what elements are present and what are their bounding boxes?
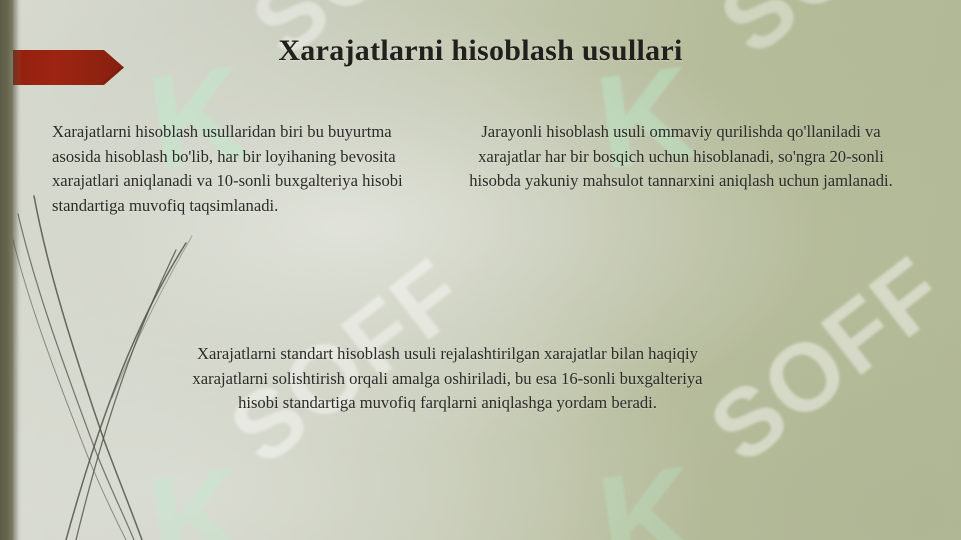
text-block-left-paragraph: Xarajatlarni hisoblash usullaridan biri … <box>52 120 404 218</box>
text-block-bottom: Xarajatlarni standart hisoblash usuli re… <box>175 342 720 416</box>
slide-canvas: K K K K SOFF SOFF SOFF SOFF <box>0 0 961 540</box>
slide-background-vignette <box>0 0 961 540</box>
text-block-right-paragraph: Jarayonli hisoblash usuli ommaviy qurili… <box>455 120 907 194</box>
page-title: Xarajatlarni hisoblash usullari <box>0 34 961 68</box>
left-edge-strip <box>0 0 13 540</box>
left-edge-strip-shadow <box>13 0 22 540</box>
text-block-bottom-paragraph: Xarajatlarni standart hisoblash usuli re… <box>175 342 720 416</box>
text-block-left: Xarajatlarni hisoblash usullaridan biri … <box>52 120 404 218</box>
text-block-right: Jarayonli hisoblash usuli ommaviy qurili… <box>455 120 907 194</box>
